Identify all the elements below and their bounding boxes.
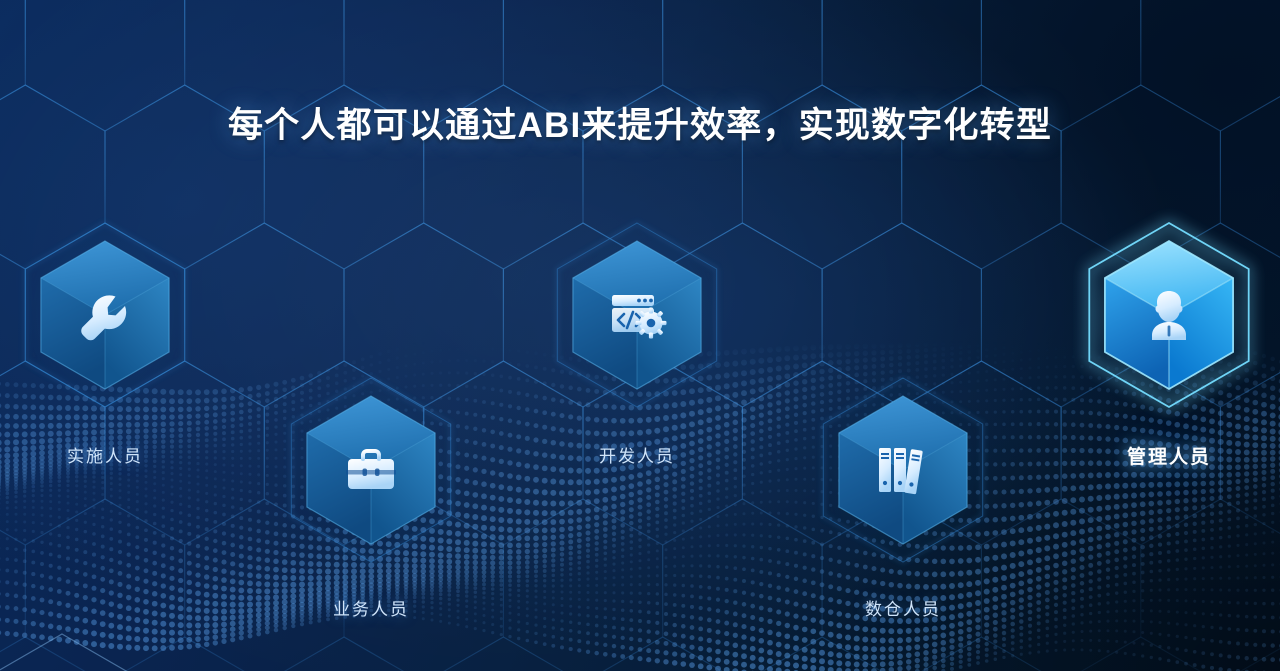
cube-datawarehouse[interactable] bbox=[803, 370, 1003, 570]
role-label-business: 业务人员 bbox=[271, 595, 471, 620]
role-label-management: 管理人员 bbox=[1069, 442, 1269, 469]
role-node-management[interactable]: 管理人员 bbox=[1069, 215, 1269, 415]
cube-business[interactable] bbox=[271, 370, 471, 570]
role-label-developer: 开发人员 bbox=[537, 442, 737, 467]
role-label-datawarehouse: 数仓人员 bbox=[803, 595, 1003, 620]
role-node-implementation[interactable]: 实施人员 bbox=[5, 215, 205, 415]
cube-management[interactable] bbox=[1069, 215, 1269, 415]
slide-canvas: 实施人员 bbox=[0, 0, 1280, 671]
role-node-developer[interactable]: 开发人员 bbox=[537, 215, 737, 415]
cube-implementation[interactable] bbox=[5, 215, 205, 415]
page-title: 每个人都可以通过ABI来提升效率，实现数字化转型 bbox=[0, 97, 1280, 148]
role-node-datawarehouse[interactable]: 数仓人员 bbox=[803, 370, 1003, 570]
binders-icon bbox=[879, 448, 923, 494]
role-node-business[interactable]: 业务人员 bbox=[271, 370, 471, 570]
cube-developer[interactable] bbox=[537, 215, 737, 415]
role-label-implementation: 实施人员 bbox=[5, 442, 205, 467]
